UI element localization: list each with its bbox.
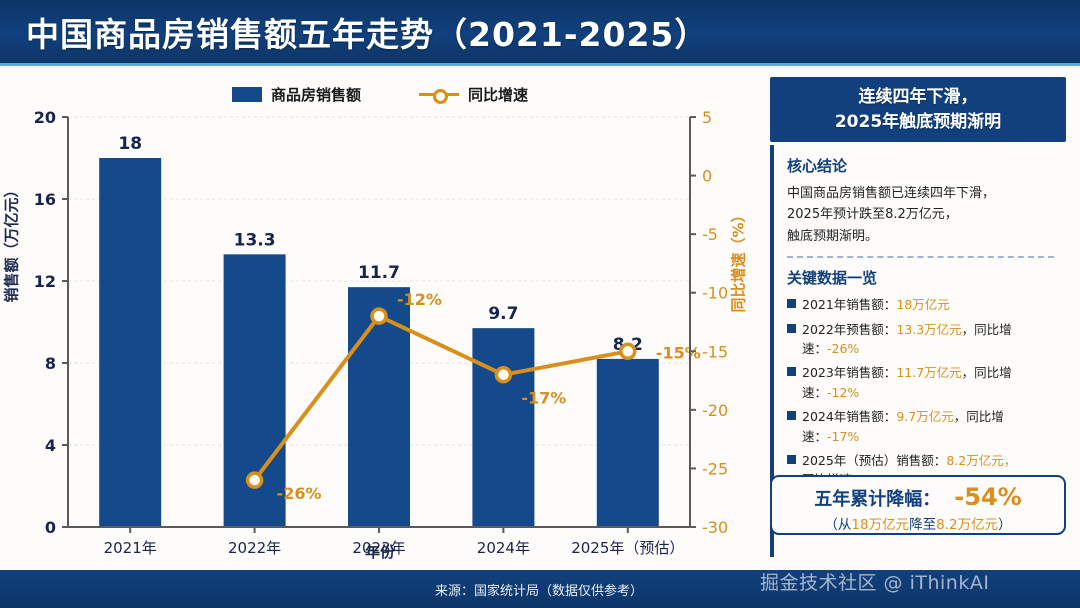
conclusion-title: 核心结论 [787, 155, 1054, 176]
keydata-item: 2022年预售额：13.3万亿元，同比增速：-26% [787, 320, 1054, 359]
page-title: 中国商品房销售额五年走势（2021-2025） [26, 8, 708, 56]
legend-bar-label: 商品房销售额 [271, 84, 361, 105]
legend-line-label: 同比增速 [468, 84, 528, 105]
x-tick-label-2023年: 2023年 [352, 539, 405, 557]
total-decline-line: 五年累计降幅：-54% [772, 483, 1064, 511]
conclusion-line: 触底预期渐明。 [787, 226, 1054, 247]
keydata-list: 2021年销售额：18万亿元2022年预售额：13.3万亿元，同比增速：-26%… [787, 295, 1054, 489]
y-tick-label-left: 0 [45, 518, 56, 537]
growth-point-2023年[interactable] [372, 309, 386, 323]
legend-bar-swatch-icon [232, 87, 262, 102]
y-tick-label-right: -30 [702, 518, 728, 537]
legend-item-line: 同比增速 [419, 84, 528, 105]
bar-value-label: 11.7 [358, 263, 400, 283]
insight-sidebar: 连续四年下滑， 2025年触底预期渐明 核心结论 中国商品房销售额已连续四年下滑… [765, 69, 1070, 570]
bar-2025年（预估）[interactable] [597, 359, 659, 527]
total-sub-suffix: ） [998, 517, 1012, 533]
watermark: 掘金技术社区 @ iThinkAI [760, 568, 989, 595]
sidebar-banner-line2: 2025年触底预期渐明 [835, 110, 1001, 135]
growth-point-2022年[interactable] [248, 473, 262, 487]
growth-value-label: -12% [397, 290, 442, 309]
chart-svg: 1813.311.79.78.2-26%-12%-17%-15%04812162… [0, 109, 760, 570]
x-tick-label-2024年: 2024年 [477, 539, 530, 557]
keydata-item: 2023年销售额：11.7万亿元，同比增速：-12% [787, 363, 1054, 402]
title-bar: 中国商品房销售额五年走势（2021-2025） [0, 0, 1080, 66]
y-tick-label-right: -15 [702, 342, 728, 361]
keydata-item-text: 2023年销售额：11.7万亿元，同比增速：-12% [802, 363, 1054, 402]
y-tick-label-right: 0 [702, 167, 712, 186]
sidebar-divider-1 [787, 256, 1054, 258]
y-tick-label-left: 8 [45, 354, 56, 373]
source-note: 来源：国家统计局（数据仅供参考） [435, 580, 643, 599]
y-tick-label-left: 4 [45, 436, 56, 455]
square-bullet-icon [787, 411, 796, 420]
square-bullet-icon [787, 324, 796, 333]
x-tick-label-2021年: 2021年 [104, 539, 157, 557]
bar-value-label: 9.7 [488, 304, 518, 324]
keydata-item-text: 2024年销售额：9.7万亿元，同比增速：-17% [802, 407, 1054, 446]
keydata-title: 关键数据一览 [787, 267, 1054, 288]
y-tick-label-right: -25 [702, 459, 728, 478]
square-bullet-icon [787, 367, 796, 376]
keydata-item-text: 2021年销售额：18万亿元 [802, 295, 1054, 314]
square-bullet-icon [787, 299, 796, 308]
plot-area: 销售额（万亿元） 同比增速（%） 年份 1813.311.79.78.2-26%… [0, 109, 760, 570]
sidebar-banner-line1: 连续四年下滑， [859, 85, 978, 110]
content-stage: 商品房销售额 同比增速 销售额（万亿元） 同比增速（%） 年份 1813.311… [0, 69, 1080, 570]
x-tick-label-2025年（预估）: 2025年（预估） [571, 539, 684, 557]
total-sub-to: 8.2万亿元 [936, 517, 998, 533]
bar-value-label: 13.3 [234, 230, 276, 250]
chart-pane: 商品房销售额 同比增速 销售额（万亿元） 同比增速（%） 年份 1813.311… [0, 69, 760, 570]
legend-item-bar: 商品房销售额 [232, 84, 361, 105]
keydata-item-text: 2022年预售额：13.3万亿元，同比增速：-26% [802, 320, 1054, 359]
bar-2024年[interactable] [472, 328, 534, 527]
growth-line [255, 316, 628, 480]
total-decline-value: -54% [954, 483, 1021, 511]
growth-point-2025年（预估）[interactable] [621, 344, 635, 358]
conclusion-line: 2025年预计跌至8.2万亿元， [787, 204, 1054, 225]
keydata-item: 2021年销售额：18万亿元 [787, 295, 1054, 314]
conclusion-line: 中国商品房销售额已连续四年下滑， [787, 183, 1054, 204]
total-decline-sub: （从18万亿元降至8.2万亿元） [772, 513, 1064, 533]
y-tick-label-left: 12 [34, 272, 56, 291]
bar-2021年[interactable] [99, 158, 161, 527]
conclusion-text: 中国商品房销售额已连续四年下滑， 2025年预计跌至8.2万亿元， 触底预期渐明… [787, 183, 1054, 247]
total-sub-prefix: （从 [824, 517, 851, 533]
y-tick-label-right: 5 [702, 109, 712, 127]
y-tick-label-right: -5 [702, 225, 718, 244]
y-tick-label-left: 20 [34, 109, 56, 127]
y-tick-label-right: -20 [702, 401, 728, 420]
total-sub-from: 18万亿元 [851, 517, 909, 533]
keydata-item: 2024年销售额：9.7万亿元，同比增速：-17% [787, 407, 1054, 446]
growth-value-label: -15% [656, 343, 701, 362]
legend-line-marker-icon [419, 87, 459, 101]
growth-point-2024年[interactable] [496, 368, 510, 382]
sidebar-banner: 连续四年下滑， 2025年触底预期渐明 [770, 77, 1066, 142]
x-tick-label-2022年: 2022年 [228, 539, 281, 557]
total-decline-label: 五年累计降幅： [814, 489, 940, 510]
growth-value-label: -17% [521, 389, 566, 408]
y-tick-label-left: 16 [34, 190, 56, 209]
total-sub-mid: 降至 [909, 517, 936, 533]
growth-value-label: -26% [277, 484, 322, 503]
bar-value-label: 18 [118, 134, 142, 154]
chart-legend: 商品房销售额 同比增速 [0, 81, 760, 107]
square-bullet-icon [787, 455, 796, 464]
total-decline-box: 五年累计降幅：-54% （从18万亿元降至8.2万亿元） [770, 475, 1066, 535]
y-tick-label-right: -10 [702, 284, 728, 303]
